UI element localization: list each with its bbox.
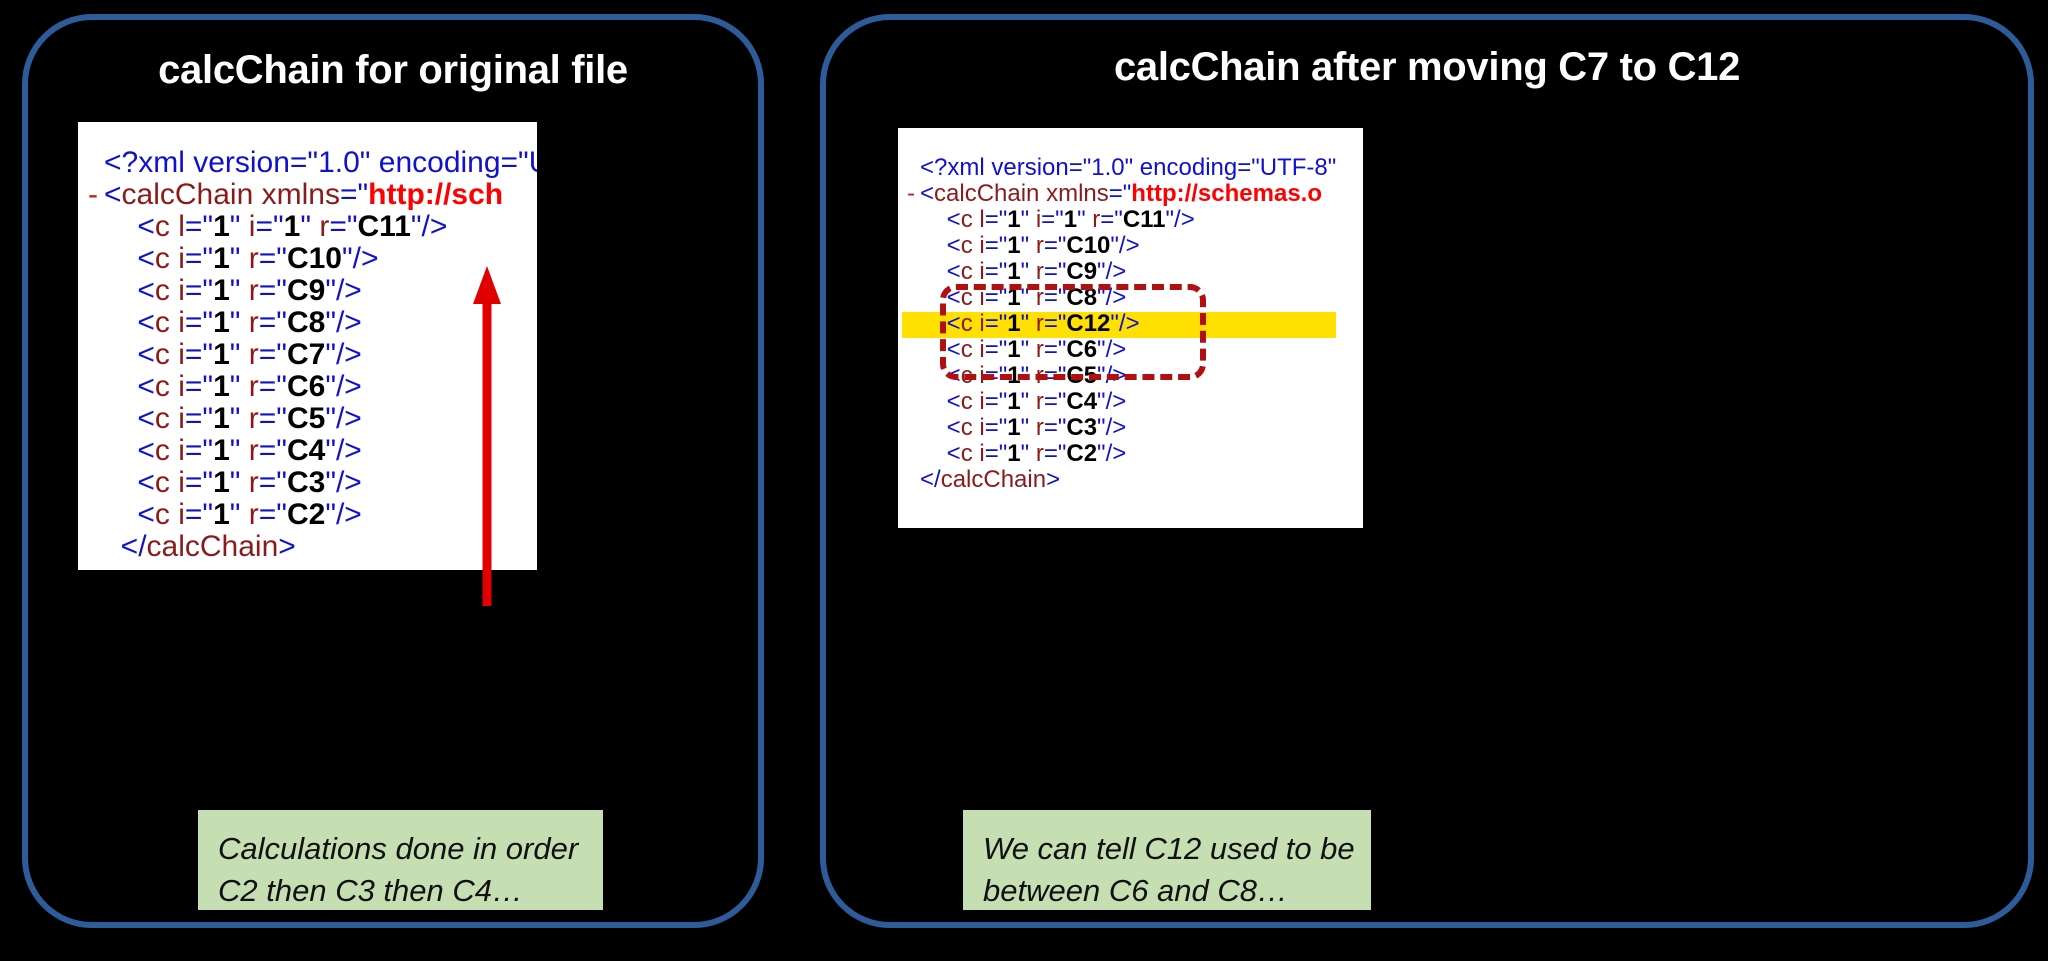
cell-ref: C11 [358, 210, 411, 243]
cell-ref-highlighted: C12 [1066, 310, 1110, 337]
callout-note-moved: We can tell C12 used to be between C6 an… [963, 810, 1371, 910]
code-line-entry-highlighted: - <c i="1" r="C12"/> [902, 312, 1336, 338]
cell-ref: C3 [1066, 414, 1097, 441]
attr-l-value: 1 [213, 210, 230, 243]
code-line-entry-first: - <c l="1" i="1" r="C11"/> [902, 208, 1336, 234]
code-line-entry: - <c i="1" r="C10"/> [902, 234, 1336, 260]
code-line-entry-boxed: - <c i="1" r="C6"/> [902, 338, 1336, 364]
cell-ref: C8 [287, 306, 325, 339]
code-line-root-open: -<calcChain xmlns="http://schemas.o [902, 182, 1336, 208]
code-line-entry: - <c i="1" r="C10"/> [82, 244, 537, 276]
collapse-marker-icon[interactable]: - [902, 182, 920, 206]
cell-ref: C5 [287, 402, 325, 435]
attr-i-value: 1 [284, 210, 301, 243]
attr-i-value: 1 [1064, 206, 1077, 233]
cell-ref: C9 [287, 274, 325, 307]
code-lines-original: -<?xml version="1.0" encoding="UTF-8" -<… [78, 122, 537, 564]
cell-ref: C6 [1066, 336, 1097, 363]
code-line-entry: - <c i="1" r="C8"/> [82, 308, 537, 340]
code-line-xml-declaration: -<?xml version="1.0" encoding="UTF-8" [902, 156, 1336, 182]
code-line-entry: - <c i="1" r="C7"/> [82, 340, 537, 372]
code-line-entry-boxed: - <c i="1" r="C8"/> [902, 286, 1336, 312]
code-line-xml-declaration: -<?xml version="1.0" encoding="UTF-8" [82, 148, 537, 180]
cell-ref: C10 [287, 242, 342, 275]
code-lines-moved: -<?xml version="1.0" encoding="UTF-8" -<… [898, 128, 1336, 494]
cell-ref: C4 [287, 434, 325, 467]
attr-l-value: 1 [1007, 206, 1020, 233]
cell-ref: C3 [287, 466, 325, 499]
code-line-root-close: -</calcChain> [902, 468, 1336, 494]
callout-note-moved-line2: between C6 and C8… [983, 870, 1371, 912]
cell-ref: C7 [287, 338, 325, 371]
callout-note-original-line1: Calculations done in order [218, 828, 603, 870]
cell-ref: C5 [1066, 362, 1097, 389]
code-line-entry: - <c i="1" r="C4"/> [902, 390, 1336, 416]
code-line-entry: - <c i="1" r="C3"/> [902, 416, 1336, 442]
code-line-entry: - <c i="1" r="C5"/> [82, 404, 537, 436]
cell-ref: C6 [287, 370, 325, 403]
cell-ref: C11 [1123, 206, 1166, 233]
cell-ref: C2 [287, 498, 325, 531]
namespace-url: http://sch [368, 178, 503, 211]
code-line-entry: - <c i="1" r="C6"/> [82, 372, 537, 404]
collapse-marker-icon[interactable]: - [82, 180, 104, 210]
code-line-entry: - <c i="1" r="C9"/> [902, 260, 1336, 286]
cell-ref: C9 [1066, 258, 1097, 285]
code-line-root-open: -<calcChain xmlns="http://sch [82, 180, 537, 212]
gutter-marker: - [82, 148, 104, 178]
callout-note-original: Calculations done in order C2 then C3 th… [198, 810, 603, 910]
code-line-entry: - <c i="1" r="C2"/> [82, 500, 537, 532]
code-block-moved: -<?xml version="1.0" encoding="UTF-8" -<… [898, 128, 1363, 528]
panel-title-moved: calcChain after moving C7 to C12 [820, 45, 2034, 90]
cell-ref: C4 [1066, 388, 1097, 415]
code-line-entry: - <c i="1" r="C9"/> [82, 276, 537, 308]
panel-title-original: calcChain for original file [22, 48, 764, 93]
code-line-entry: - <c i="1" r="C3"/> [82, 468, 537, 500]
code-line-entry-first: - <c l="1" i="1" r="C11"/> [82, 212, 537, 244]
callout-note-original-line2: C2 then C3 then C4… [218, 870, 603, 912]
cell-ref: C10 [1066, 232, 1110, 259]
code-line-entry: - <c i="1" r="C5"/> [902, 364, 1336, 390]
callout-note-moved-line1: We can tell C12 used to be [983, 828, 1371, 870]
code-line-entry: - <c i="1" r="C4"/> [82, 436, 537, 468]
slide-canvas: calcChain for original file -<?xml versi… [0, 0, 2048, 961]
namespace-url: http://schemas.o [1131, 180, 1322, 207]
cell-ref: C8 [1066, 284, 1097, 311]
code-line-entry: - <c i="1" r="C2"/> [902, 442, 1336, 468]
code-block-original: -<?xml version="1.0" encoding="UTF-8" -<… [78, 122, 537, 570]
cell-ref: C2 [1066, 440, 1097, 467]
code-line-root-close: - </calcChain> [82, 532, 537, 564]
